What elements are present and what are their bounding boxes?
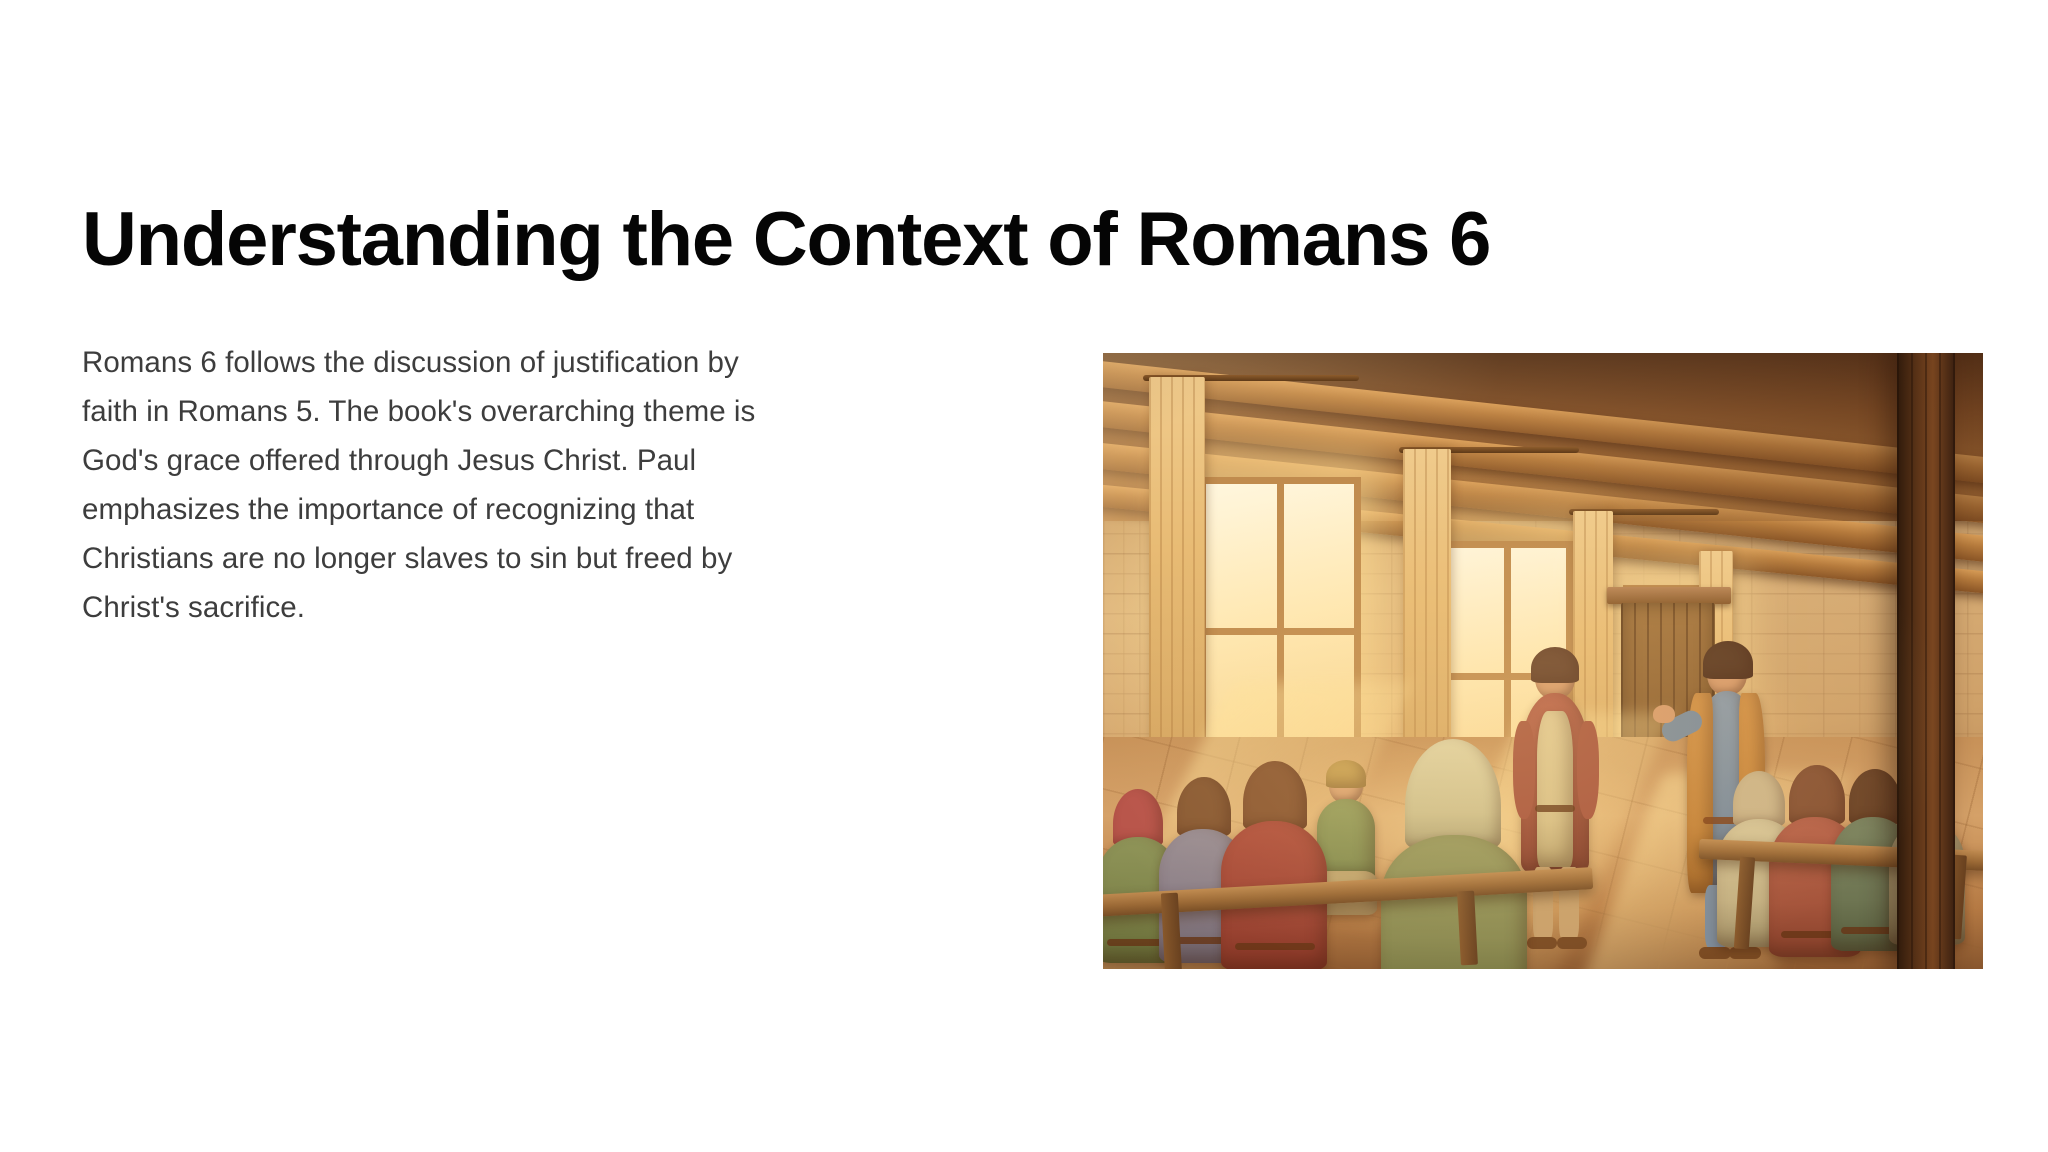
scene-illustration [1103,353,1983,969]
slide-root: Understanding the Context of Romans 6 Ro… [0,0,2048,1152]
figure-seated-left-3 [1221,761,1331,969]
figure-seated-left-4-foreground [1379,739,1529,969]
figure-sandal [1527,937,1557,949]
window-mullion [1206,628,1354,635]
figure-hair [1531,647,1579,683]
figure-open-hand [1653,705,1675,723]
figure-hair [1326,760,1366,788]
figure-belt [1535,805,1575,812]
figure-sandal [1557,937,1587,949]
context-paragraph: Romans 6 follows the discussion of justi… [82,338,762,632]
wooden-pillar [1897,353,1955,969]
door-lintel [1607,587,1731,604]
illustration-canvas [1103,353,1983,969]
figure-hair [1703,641,1753,679]
figure-arm [1577,721,1599,819]
page-title: Understanding the Context of Romans 6 [82,199,1582,281]
figure-robe [1381,835,1527,969]
figure-belt [1235,943,1315,950]
body-text-column: Romans 6 follows the discussion of justi… [82,338,762,632]
figure-tunic [1537,711,1573,867]
